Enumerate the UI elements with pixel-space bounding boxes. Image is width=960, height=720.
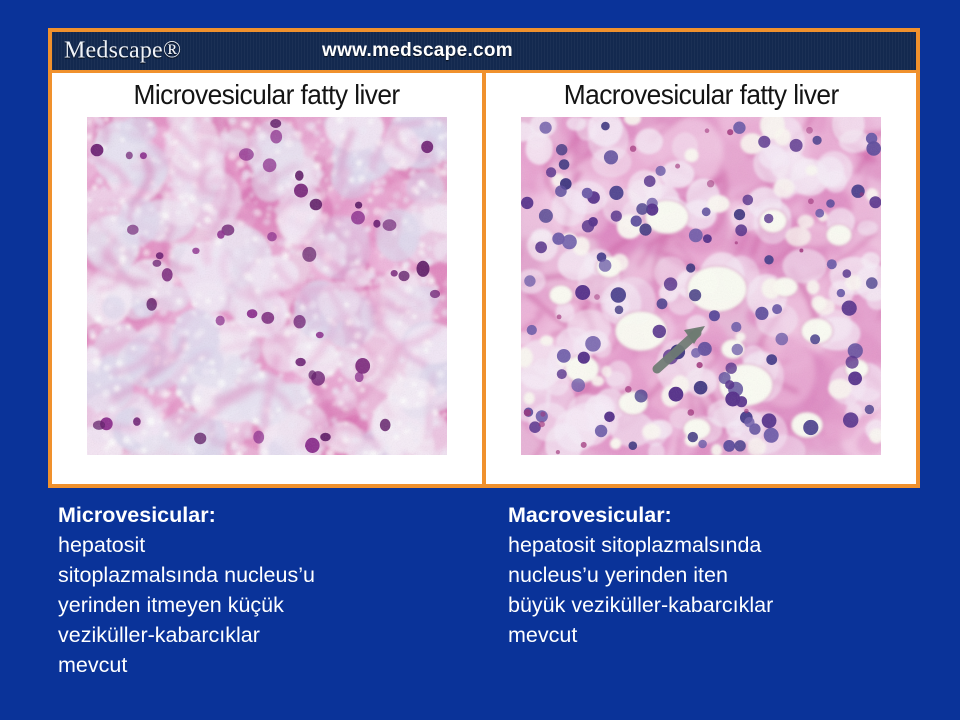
caption-macrovesicular: Macrovesicular: hepatosit sitoplazmalsın… <box>508 500 928 650</box>
caption-microvesicular-body: hepatosit sitoplazmalsında nucleus’u yer… <box>58 530 458 680</box>
caption-macrovesicular-body: hepatosit sitoplazmalsında nucleus’u yer… <box>508 530 928 650</box>
figure-title-macrovesicular: Macrovesicular fatty liver <box>564 75 839 115</box>
caption-macrovesicular-heading: Macrovesicular: <box>508 500 928 530</box>
caption-microvesicular-heading: Microvesicular: <box>58 500 458 530</box>
micrograph-microvesicular <box>87 117 447 455</box>
micrograph-microvesicular-svg <box>87 117 447 455</box>
medscape-header-bar: Medscape® www.medscape.com <box>52 32 916 73</box>
caption-microvesicular: Microvesicular: hepatosit sitoplazmalsın… <box>58 500 458 680</box>
micrograph-macrovesicular <box>521 117 881 455</box>
micrograph-macrovesicular-svg <box>521 117 881 455</box>
figure-title-microvesicular: Microvesicular fatty liver <box>134 75 400 115</box>
figure-microvesicular: Microvesicular fatty liver <box>52 73 482 484</box>
figure-macrovesicular: Macrovesicular fatty liver <box>486 73 916 484</box>
captions-area: Microvesicular: hepatosit sitoplazmalsın… <box>0 500 960 710</box>
medscape-logo: Medscape® <box>64 38 181 65</box>
medscape-url-text: www.medscape.com <box>322 40 513 62</box>
figure-row: Microvesicular fatty liver <box>52 73 916 484</box>
medscape-figure-panel: Medscape® www.medscape.com Microvesicula… <box>48 28 920 488</box>
